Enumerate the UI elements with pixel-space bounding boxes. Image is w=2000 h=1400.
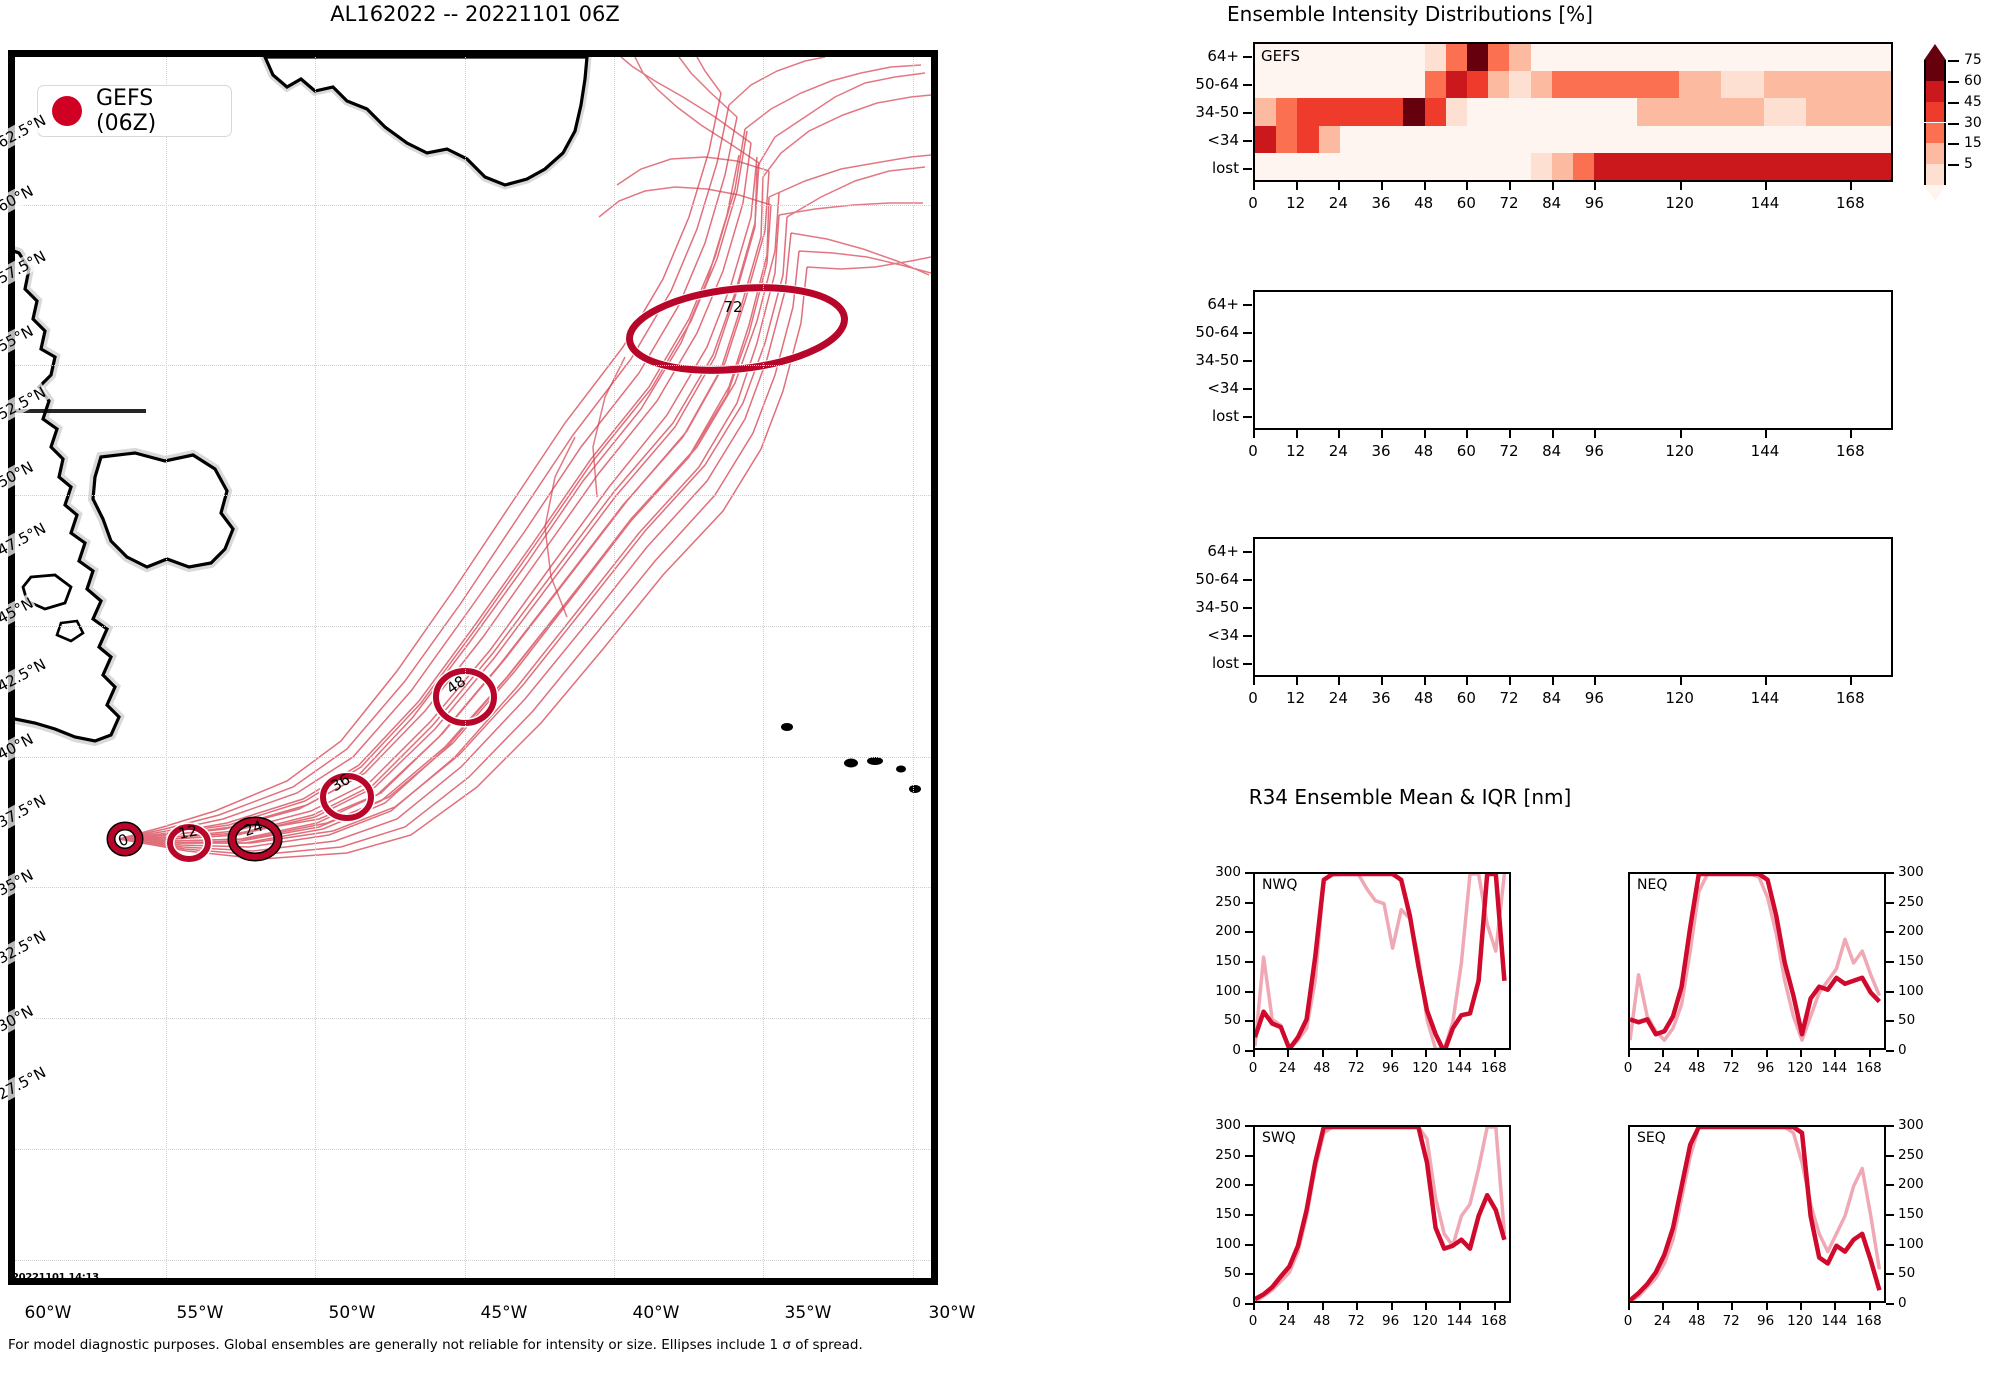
r34-x-tick xyxy=(1731,1303,1733,1310)
r34-y-label: 0 xyxy=(1232,1295,1241,1311)
ensemble-y-label: lost xyxy=(1212,654,1239,672)
r34-iqr-line xyxy=(1255,874,1504,1049)
r34-y-tick xyxy=(1245,1214,1253,1216)
r34-x-label: 24 xyxy=(1279,1060,1296,1076)
ensemble-x-tick xyxy=(1296,677,1298,685)
lon-tick-label: 45°W xyxy=(481,1303,528,1323)
ensemble-x-label: 84 xyxy=(1542,442,1561,460)
lon-tick-label: 35°W xyxy=(785,1303,832,1323)
r34-x-tick xyxy=(1697,1050,1699,1057)
heatmap-cell xyxy=(1552,153,1574,180)
gridline-lon xyxy=(166,57,167,1278)
r34-x-label: 96 xyxy=(1757,1313,1774,1329)
gridline-lat xyxy=(15,1260,931,1261)
heatmap-cell xyxy=(1340,126,1362,153)
r34-x-tick xyxy=(1425,1050,1427,1057)
lon-tick-label: 60°W xyxy=(25,1303,72,1323)
r34-y-tick xyxy=(1886,1125,1894,1127)
r34-x-tick xyxy=(1869,1050,1871,1057)
ellipse-hour-36: 36 xyxy=(323,770,371,818)
r34-x-tick xyxy=(1766,1303,1768,1310)
lon-tick-label: 55°W xyxy=(177,1303,224,1323)
ensemble-x-label: 84 xyxy=(1542,689,1561,707)
heatmap-cell xyxy=(1764,71,1807,98)
heatmap-cell xyxy=(1573,44,1595,71)
ensemble-x-label: 0 xyxy=(1248,194,1258,212)
r34-x-label: 72 xyxy=(1348,1313,1365,1329)
ensemble-x-label: 120 xyxy=(1665,689,1694,707)
colorbar-tick xyxy=(1948,60,1959,62)
ensemble-x-tick xyxy=(1424,182,1426,190)
ensemble-x-tick xyxy=(1680,677,1682,685)
ensemble-x-label: 168 xyxy=(1836,442,1865,460)
heatmap-cell xyxy=(1382,44,1404,71)
r34-y-tick xyxy=(1886,1244,1894,1246)
lon-tick-label: 50°W xyxy=(329,1303,376,1323)
heatmap-cell xyxy=(1488,71,1510,98)
ensemble-x-label: 96 xyxy=(1585,194,1604,212)
heatmap-cell xyxy=(1319,44,1341,71)
ensemble-x-label: 60 xyxy=(1457,689,1476,707)
heatmap-cell xyxy=(1509,98,1531,125)
ensemble-x-tick xyxy=(1850,182,1852,190)
heatmap-cell xyxy=(1488,98,1510,125)
ensemble-x-label: 144 xyxy=(1751,194,1780,212)
heatmap-cell xyxy=(1806,126,1849,153)
ensemble-x-tick xyxy=(1765,182,1767,190)
ensemble-x-label: 0 xyxy=(1248,442,1258,460)
heatmap-cell xyxy=(1531,44,1553,71)
colorbar-tick xyxy=(1948,164,1959,166)
r34-seq-plot xyxy=(1630,1127,1886,1303)
r34-iqr-line xyxy=(1630,874,1879,1040)
r34-y-label: 100 xyxy=(1215,983,1241,999)
heatmap-cell xyxy=(1297,126,1319,153)
ensemble-x-label: 24 xyxy=(1329,194,1348,212)
heatmap-cell xyxy=(1340,71,1362,98)
ensemble-x-tick xyxy=(1253,430,1255,438)
ensemble-x-tick xyxy=(1466,430,1468,438)
heatmap-cell xyxy=(1679,44,1722,71)
r34-y-label: 100 xyxy=(1215,1236,1241,1252)
heatmap-cell xyxy=(1573,71,1595,98)
gridline-lat xyxy=(15,495,931,496)
lon-tick-label: 30°W xyxy=(929,1303,976,1323)
colorbar-tick-label: 45 xyxy=(1964,94,1982,110)
r34-x-label: 168 xyxy=(1481,1313,1507,1329)
r34-y-label: 0 xyxy=(1898,1295,1907,1311)
heatmap-cell xyxy=(1255,71,1277,98)
r34-x-tick xyxy=(1253,1303,1255,1310)
ensemble-x-tick xyxy=(1381,430,1383,438)
heatmap-cell xyxy=(1276,153,1298,180)
ensemble-x-label: 12 xyxy=(1286,442,1305,460)
r34-x-label: 168 xyxy=(1481,1060,1507,1076)
r34-x-label: 120 xyxy=(1787,1060,1813,1076)
r34-x-label: 72 xyxy=(1723,1060,1740,1076)
ensemble-x-label: 48 xyxy=(1414,194,1433,212)
ensemble-y-label: <34 xyxy=(1207,379,1239,397)
colorbar-tick-label: 60 xyxy=(1964,73,1982,89)
heatmap-cell xyxy=(1425,153,1447,180)
heatmap-cell xyxy=(1276,71,1298,98)
r34-x-label: 24 xyxy=(1279,1313,1296,1329)
ensemble-x-tick xyxy=(1296,182,1298,190)
heatmap-cell xyxy=(1806,44,1849,71)
heatmap-cell xyxy=(1467,126,1489,153)
r34-x-label: 144 xyxy=(1447,1313,1473,1329)
heatmap-cell xyxy=(1573,126,1595,153)
r34-x-tick xyxy=(1459,1050,1461,1057)
heatmap-cell xyxy=(1403,98,1425,125)
heatmap-cell xyxy=(1594,153,1637,180)
ensemble-y-label: 50-64 xyxy=(1195,570,1239,588)
r34-y-label: 50 xyxy=(1898,1012,1915,1028)
gridline-lat xyxy=(15,1149,931,1150)
r34-x-label: 24 xyxy=(1654,1313,1671,1329)
svg-text:12: 12 xyxy=(177,821,199,843)
r34-y-label: 0 xyxy=(1898,1042,1907,1058)
r34-x-tick xyxy=(1628,1050,1630,1057)
heatmap-cell xyxy=(1509,153,1531,180)
heatmap-cell xyxy=(1467,98,1489,125)
ensemble-x-label: 36 xyxy=(1371,442,1390,460)
ensemble-y-tick xyxy=(1243,304,1252,306)
ensemble-y-label: 50-64 xyxy=(1195,323,1239,341)
ensemble-x-label: 24 xyxy=(1329,442,1348,460)
r34-x-label: 120 xyxy=(1412,1060,1438,1076)
ensemble-y-tick xyxy=(1243,663,1252,665)
r34-x-tick xyxy=(1869,1303,1871,1310)
ensemble-x-tick xyxy=(1680,182,1682,190)
r34-y-label: 300 xyxy=(1898,864,1924,880)
colorbar-tick xyxy=(1948,102,1959,104)
heatmap-cell xyxy=(1679,98,1722,125)
heatmap-cell xyxy=(1531,126,1553,153)
r34-mean-line xyxy=(1255,1127,1504,1299)
heatmap-cell xyxy=(1340,153,1362,180)
ensemble-x-label: 12 xyxy=(1286,689,1305,707)
r34-x-label: 48 xyxy=(1313,1060,1330,1076)
r34-y-label: 250 xyxy=(1898,894,1924,910)
heatmap-cell xyxy=(1849,98,1892,125)
r34-x-label: 0 xyxy=(1249,1313,1258,1329)
ensemble-y-tick xyxy=(1243,56,1252,58)
ensemble-x-label: 96 xyxy=(1585,689,1604,707)
svg-text:72: 72 xyxy=(723,298,742,316)
ensemble-x-label: 84 xyxy=(1542,194,1561,212)
ellipse-hour-0: 0 xyxy=(111,826,139,852)
ensemble-x-tick xyxy=(1680,430,1682,438)
colorbar-segment xyxy=(1924,81,1946,102)
r34-x-tick xyxy=(1662,1303,1664,1310)
r34-x-label: 0 xyxy=(1249,1060,1258,1076)
r34-x-tick xyxy=(1494,1303,1496,1310)
colorbar-segment xyxy=(1924,102,1946,123)
r34-y-tick xyxy=(1886,1184,1894,1186)
r34-swq-plot xyxy=(1255,1127,1511,1303)
heatmap-cell xyxy=(1276,126,1298,153)
ensemble-x-tick xyxy=(1338,182,1340,190)
r34-y-label: 50 xyxy=(1224,1265,1241,1281)
r34-x-tick xyxy=(1834,1050,1836,1057)
heatmap-cell xyxy=(1721,98,1764,125)
ensemble-x-tick xyxy=(1850,677,1852,685)
map-frame: 0 12 24 36 xyxy=(8,50,938,1285)
heatmap-cell xyxy=(1319,71,1341,98)
heatmap-cell xyxy=(1849,153,1892,180)
r34-y-tick xyxy=(1245,872,1253,874)
ensemble-x-label: 12 xyxy=(1286,194,1305,212)
r34-x-label: 96 xyxy=(1757,1060,1774,1076)
r34-x-label: 72 xyxy=(1348,1060,1365,1076)
r34-iqr-line xyxy=(1255,1127,1504,1302)
ensemble-x-tick xyxy=(1509,430,1511,438)
ensemble-panel-gefs[interactable]: GEFS xyxy=(1253,42,1893,182)
ensemble-panel-2[interactable] xyxy=(1253,290,1893,430)
gridline-lat xyxy=(15,626,931,627)
r34-y-tick xyxy=(1886,1020,1894,1022)
colorbar-tick xyxy=(1948,143,1959,145)
heatmap-cell xyxy=(1403,153,1425,180)
ensemble-x-label: 60 xyxy=(1457,442,1476,460)
r34-y-tick xyxy=(1245,1050,1253,1052)
r34-y-label: 250 xyxy=(1215,894,1241,910)
heatmap-cell xyxy=(1361,153,1383,180)
heatmap-cell xyxy=(1467,71,1489,98)
heatmap-cell xyxy=(1637,44,1680,71)
r34-x-label: 144 xyxy=(1447,1060,1473,1076)
heatmap-cell xyxy=(1403,44,1425,71)
heatmap-cell xyxy=(1382,71,1404,98)
ensemble-y-label: 34-50 xyxy=(1195,351,1239,369)
r34-iqr-line xyxy=(1630,1127,1879,1302)
r34-y-tick xyxy=(1886,1214,1894,1216)
r34-y-label: 150 xyxy=(1898,953,1924,969)
heatmap-cells xyxy=(1255,44,1891,180)
r34-panel-nwq[interactable]: NWQ xyxy=(1253,872,1511,1050)
heatmap-cell xyxy=(1531,153,1553,180)
colorbar-tick-label: 75 xyxy=(1964,52,1982,68)
heatmap-cell xyxy=(1319,98,1341,125)
r34-x-tick xyxy=(1834,1303,1836,1310)
r34-x-tick xyxy=(1322,1303,1324,1310)
r34-y-label: 250 xyxy=(1898,1147,1924,1163)
colorbar-segment xyxy=(1924,164,1946,185)
ensemble-y-label: <34 xyxy=(1207,131,1239,149)
r34-y-tick xyxy=(1245,1244,1253,1246)
heatmap-cell xyxy=(1594,126,1637,153)
colorbar-tick-label: 30 xyxy=(1964,115,1982,131)
ensemble-y-label: 64+ xyxy=(1207,47,1239,65)
r34-y-tick xyxy=(1245,1273,1253,1275)
heatmap-cell xyxy=(1594,44,1637,71)
r34-y-label: 150 xyxy=(1898,1206,1924,1222)
r34-x-tick xyxy=(1800,1303,1802,1310)
ensemble-y-label: 64+ xyxy=(1207,295,1239,313)
r34-x-tick xyxy=(1662,1050,1664,1057)
ensemble-x-label: 96 xyxy=(1585,442,1604,460)
ensemble-x-label: 168 xyxy=(1836,194,1865,212)
r34-x-tick xyxy=(1322,1050,1324,1057)
ensemble-y-label: 34-50 xyxy=(1195,598,1239,616)
ensemble-x-label: 24 xyxy=(1329,689,1348,707)
ensemble-panel-3[interactable] xyxy=(1253,537,1893,677)
r34-y-tick xyxy=(1886,961,1894,963)
r34-y-tick xyxy=(1886,902,1894,904)
heatmap-cell xyxy=(1488,126,1510,153)
r34-x-tick xyxy=(1628,1303,1630,1310)
r34-x-tick xyxy=(1391,1050,1393,1057)
heatmap-cell xyxy=(1403,126,1425,153)
ensemble-x-tick xyxy=(1594,182,1596,190)
r34-x-tick xyxy=(1391,1303,1393,1310)
r34-y-tick xyxy=(1886,1273,1894,1275)
page-title: AL162022 -- 20221101 06Z xyxy=(0,2,950,26)
ensemble-x-label: 120 xyxy=(1665,442,1694,460)
heatmap-cell xyxy=(1721,44,1764,71)
ensemble-y-tick xyxy=(1243,360,1252,362)
r34-panel-swq[interactable]: SWQ xyxy=(1253,1125,1511,1303)
r34-x-tick xyxy=(1287,1303,1289,1310)
colorbar-segment xyxy=(1924,123,1946,144)
gridline-lon xyxy=(614,57,615,1278)
r34-y-label: 300 xyxy=(1215,1117,1241,1133)
ensemble-x-label: 60 xyxy=(1457,194,1476,212)
ensemble-y-tick xyxy=(1243,579,1252,581)
r34-panel-tag: SWQ xyxy=(1262,1130,1296,1146)
gridline-lat xyxy=(15,887,931,888)
heatmap-cell xyxy=(1446,126,1468,153)
ensemble-y-tick xyxy=(1243,388,1252,390)
heatmap-cell xyxy=(1425,126,1447,153)
r34-y-label: 150 xyxy=(1215,1206,1241,1222)
gridline-lat xyxy=(15,757,931,758)
heatmap-cell xyxy=(1509,71,1531,98)
r34-y-label: 100 xyxy=(1898,1236,1924,1252)
heatmap-cell xyxy=(1467,44,1489,71)
forecast-track-map[interactable]: 0 12 24 36 xyxy=(8,50,938,1285)
ensemble-y-tick xyxy=(1243,84,1252,86)
r34-y-tick xyxy=(1886,1303,1894,1305)
ensemble-x-tick xyxy=(1466,677,1468,685)
render-timestamp: 20221101 14:13 xyxy=(12,1272,99,1283)
r34-panel-seq[interactable]: SEQ xyxy=(1628,1125,1886,1303)
heatmap-cell xyxy=(1340,98,1362,125)
ensemble-y-label: <34 xyxy=(1207,626,1239,644)
ensemble-y-tick xyxy=(1243,168,1252,170)
ensemble-x-tick xyxy=(1381,182,1383,190)
r34-y-tick xyxy=(1245,1303,1253,1305)
ensemble-x-label: 72 xyxy=(1499,689,1518,707)
heatmap-cell xyxy=(1361,71,1383,98)
r34-y-tick xyxy=(1245,931,1253,933)
heatmap-cell xyxy=(1764,153,1807,180)
colorbar-extend-min xyxy=(1924,185,1946,201)
heatmap-cell xyxy=(1319,126,1341,153)
colorbar-extend-max xyxy=(1924,44,1946,60)
heatmap-cell xyxy=(1721,126,1764,153)
heatmap-cell xyxy=(1849,44,1892,71)
r34-panel-neq[interactable]: NEQ xyxy=(1628,872,1886,1050)
heatmap-cell xyxy=(1721,71,1764,98)
heatmap-cell xyxy=(1552,126,1574,153)
heatmap-cell xyxy=(1446,71,1468,98)
r34-x-label: 48 xyxy=(1688,1313,1705,1329)
r34-panel-tag: SEQ xyxy=(1637,1130,1666,1146)
ensemble-x-label: 48 xyxy=(1414,689,1433,707)
heatmap-cell xyxy=(1531,98,1553,125)
heatmap-cell xyxy=(1319,153,1341,180)
heatmap-cell xyxy=(1679,126,1722,153)
ensemble-x-label: 168 xyxy=(1836,689,1865,707)
ensemble-x-label: 120 xyxy=(1665,194,1694,212)
heatmap-cell xyxy=(1361,44,1383,71)
r34-y-tick xyxy=(1886,991,1894,993)
r34-x-label: 72 xyxy=(1723,1313,1740,1329)
heatmap-cell xyxy=(1488,153,1510,180)
heatmap-cell xyxy=(1276,98,1298,125)
heatmap-cell xyxy=(1382,98,1404,125)
ensemble-title: Ensemble Intensity Distributions [%] xyxy=(1070,2,1750,26)
r34-y-label: 100 xyxy=(1898,983,1924,999)
r34-y-label: 250 xyxy=(1215,1147,1241,1163)
ensemble-x-label: 0 xyxy=(1248,689,1258,707)
heatmap-cell xyxy=(1255,153,1277,180)
ensemble-y-label: lost xyxy=(1212,159,1239,177)
r34-y-label: 200 xyxy=(1898,1176,1924,1192)
ensemble-x-tick xyxy=(1338,430,1340,438)
heatmap-cell xyxy=(1509,44,1531,71)
ensemble-y-tick xyxy=(1243,551,1252,553)
r34-x-label: 96 xyxy=(1382,1060,1399,1076)
r34-x-tick xyxy=(1731,1050,1733,1057)
heatmap-cell xyxy=(1637,98,1680,125)
ensemble-panel-tag: GEFS xyxy=(1261,47,1300,65)
r34-title: R34 Ensemble Mean & IQR [nm] xyxy=(1070,785,1750,809)
r34-neq-plot xyxy=(1630,874,1886,1050)
heatmap-cell xyxy=(1488,44,1510,71)
colorbar-tick xyxy=(1948,81,1959,83)
heatmap-cell xyxy=(1637,126,1680,153)
heatmap-cell xyxy=(1297,44,1319,71)
heatmap-cell xyxy=(1806,98,1849,125)
r34-x-tick xyxy=(1425,1303,1427,1310)
heatmap-cell xyxy=(1806,71,1849,98)
r34-x-label: 0 xyxy=(1624,1060,1633,1076)
ensemble-y-tick xyxy=(1243,635,1252,637)
ensemble-x-tick xyxy=(1466,182,1468,190)
r34-y-label: 0 xyxy=(1232,1042,1241,1058)
gridline-lat xyxy=(15,365,931,366)
heatmap-cell xyxy=(1425,44,1447,71)
heatmap-cell xyxy=(1531,71,1553,98)
r34-panel-tag: NWQ xyxy=(1262,877,1297,893)
lon-tick-label: 40°W xyxy=(633,1303,680,1323)
r34-nwq-plot xyxy=(1255,874,1511,1050)
map-legend[interactable]: GEFS (06Z) xyxy=(37,85,232,137)
ensemble-x-tick xyxy=(1552,182,1554,190)
r34-x-label: 0 xyxy=(1624,1313,1633,1329)
heatmap-cell xyxy=(1425,71,1447,98)
heatmap-cell xyxy=(1764,98,1807,125)
r34-y-label: 200 xyxy=(1215,923,1241,939)
r34-y-tick xyxy=(1245,991,1253,993)
heatmap-cell xyxy=(1297,71,1319,98)
heatmap-cell xyxy=(1255,126,1277,153)
ensemble-x-tick xyxy=(1552,677,1554,685)
heatmap-cell xyxy=(1467,153,1489,180)
